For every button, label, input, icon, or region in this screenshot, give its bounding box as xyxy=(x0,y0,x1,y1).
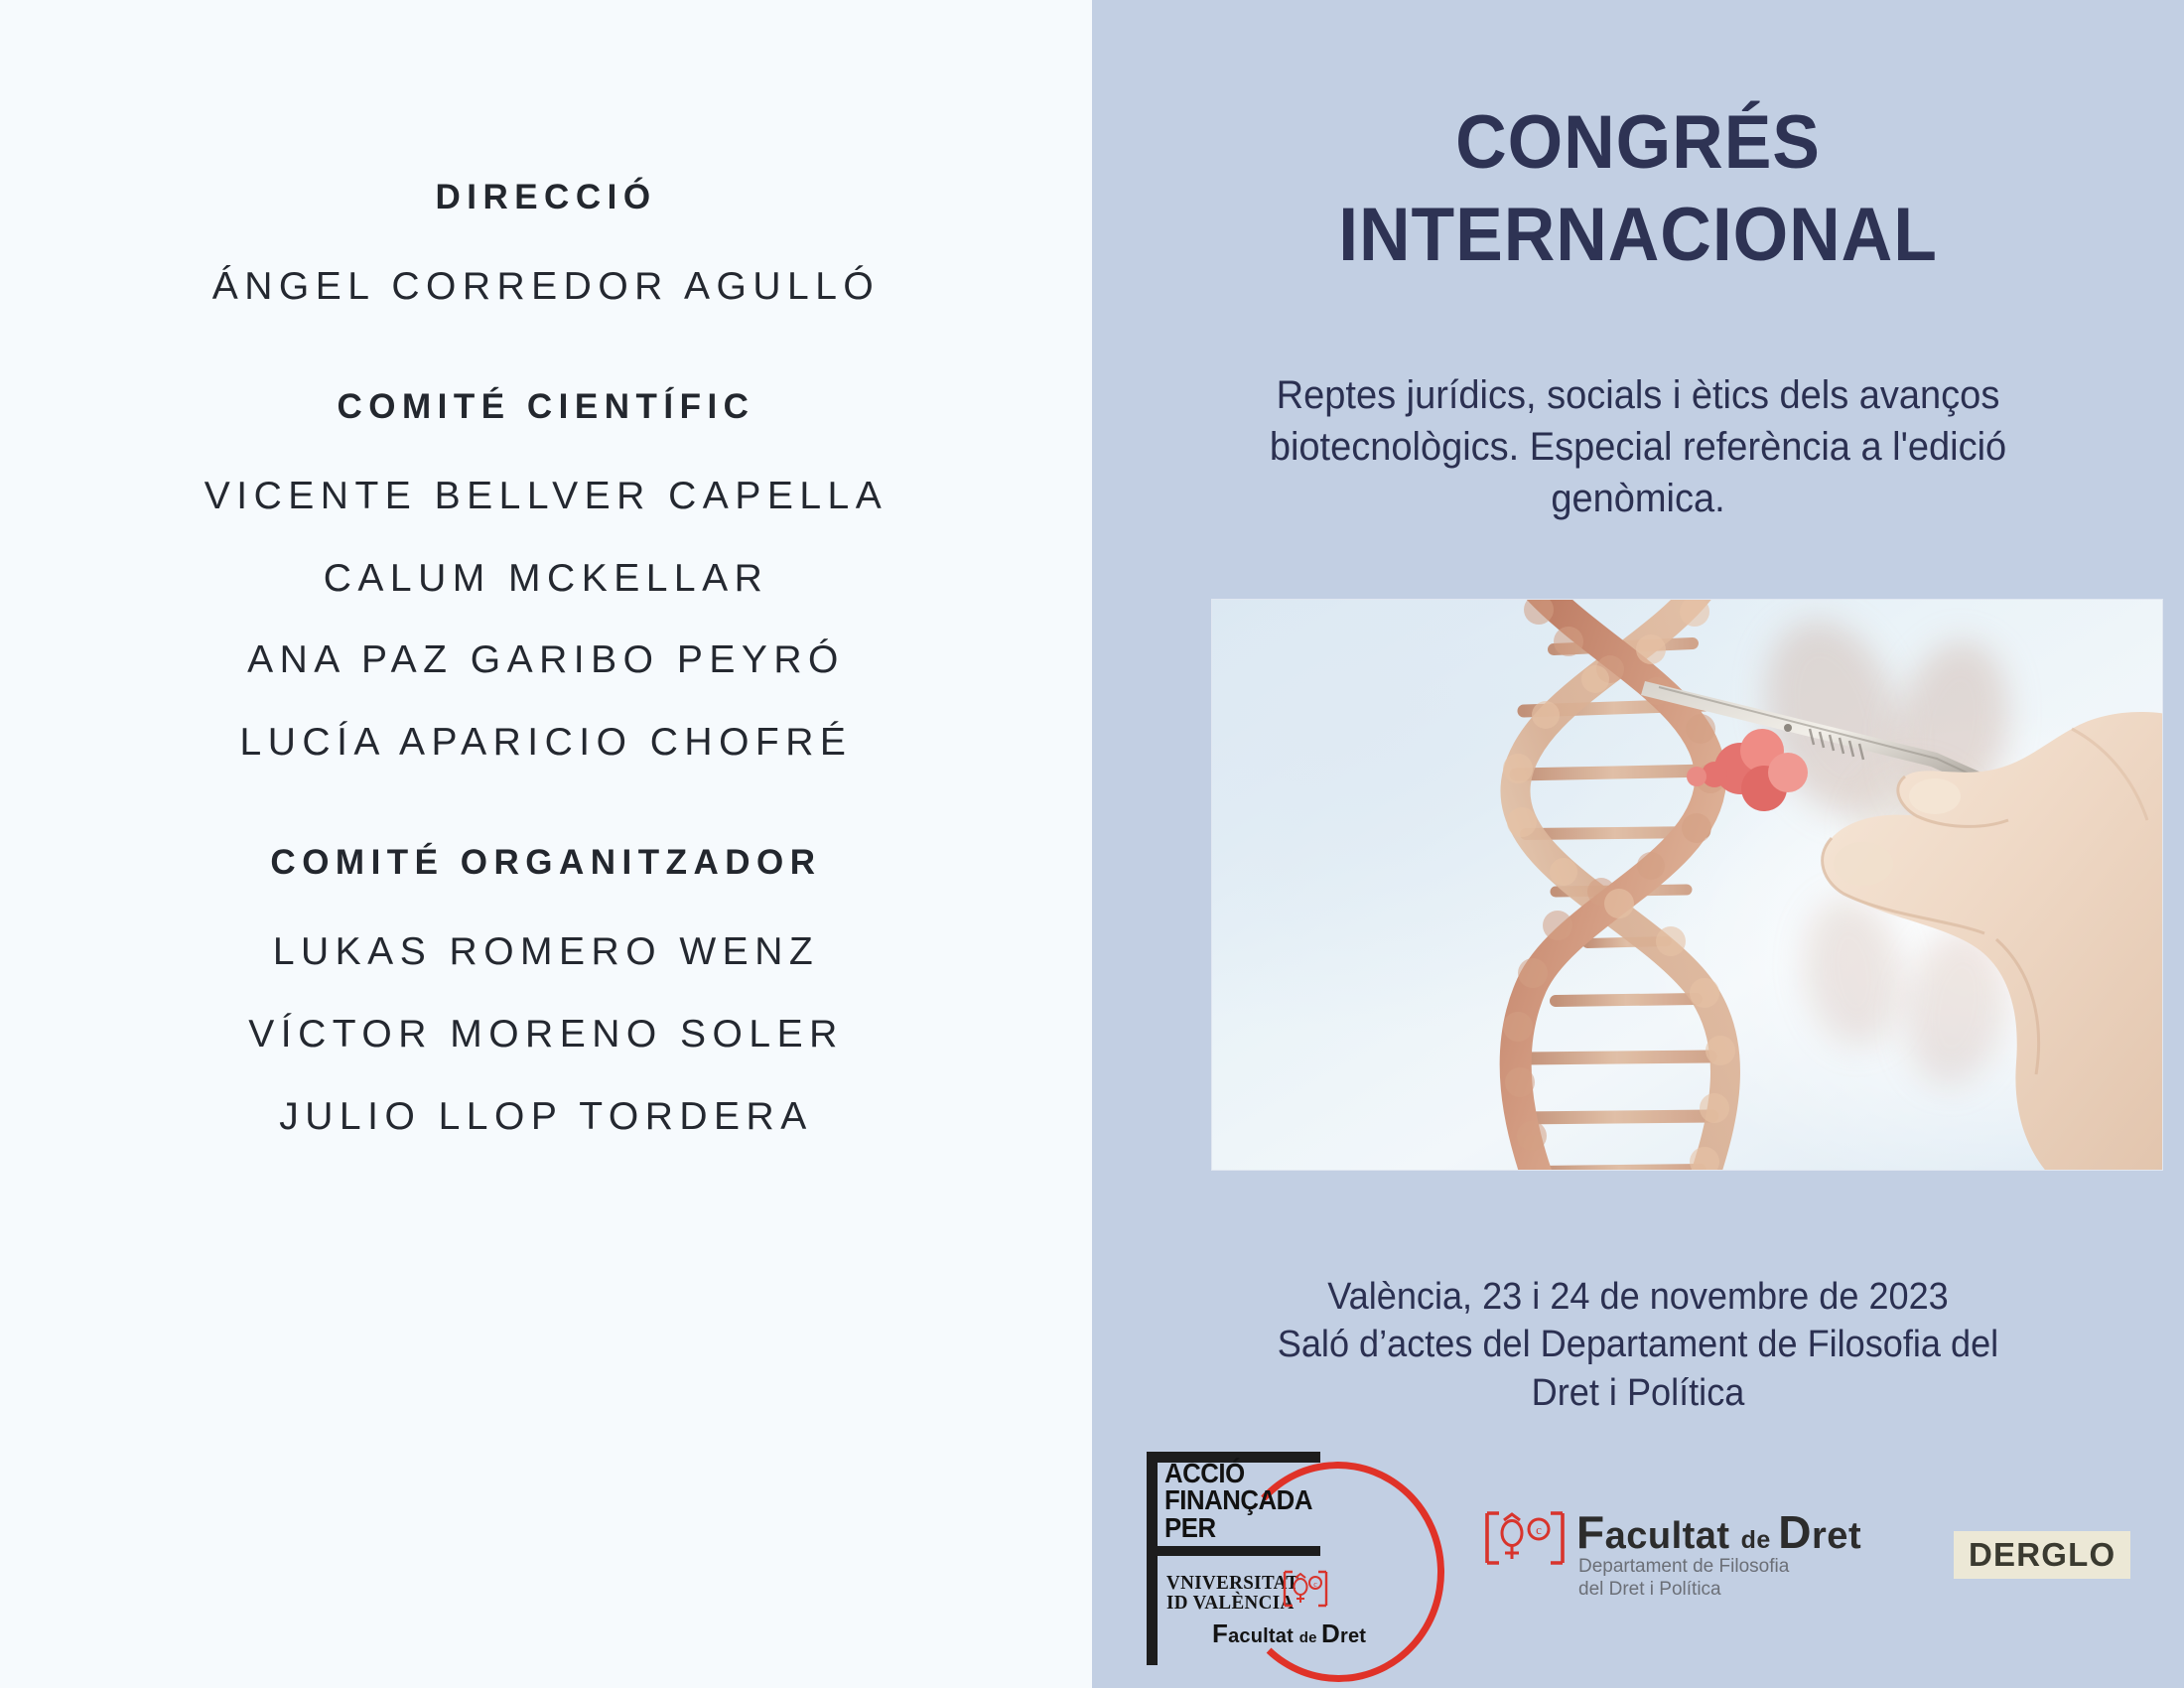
facultat-de-dret-logo: c Facultat de Dret Departament de Filoso… xyxy=(1479,1507,1856,1626)
uv-faculty-name: Facultat de Dret xyxy=(1212,1618,1366,1649)
faculty-title-d: D xyxy=(1778,1506,1812,1558)
credits-panel: DIRECCIÓ ÁNGEL CORREDOR AGULLÓ COMITÉ CI… xyxy=(0,0,1092,1688)
derglo-logo: DERGLO xyxy=(1954,1531,2130,1579)
latex-glove-icon xyxy=(1823,712,2162,1170)
group-heading-comite-cientific: COMITÉ CIENTÍFIC xyxy=(60,386,1032,428)
uv-faculty-de: de xyxy=(1299,1629,1321,1646)
spacer xyxy=(60,428,1032,474)
black-bracket-divider-icon xyxy=(1147,1546,1320,1556)
page-title-line2: INTERNACIONAL xyxy=(1190,190,2086,282)
faculty-title-ret: ret xyxy=(1812,1515,1861,1557)
spacer xyxy=(60,1058,1032,1094)
credit-group-comite-organitzador: COMITÉ ORGANITZADOR LUKAS ROMERO WENZ VÍ… xyxy=(60,842,1032,1140)
svg-text:c: c xyxy=(1313,1580,1317,1589)
person-name: ANA PAZ GARIBO PEYRÓ xyxy=(60,637,1032,684)
funding-line2: FINANÇADA xyxy=(1164,1486,1312,1513)
faculty-title-f: F xyxy=(1576,1506,1605,1558)
spacer xyxy=(60,218,1032,264)
venue-date: València, 23 i 24 de novembre de 2023 xyxy=(1204,1273,2072,1321)
person-name: ÁNGEL CORREDOR AGULLÓ xyxy=(60,264,1032,311)
spacer xyxy=(60,311,1032,386)
university-name-line2: ID VALÈNCIA xyxy=(1166,1593,1298,1613)
poster-root: DIRECCIÓ ÁNGEL CORREDOR AGULLÓ COMITÉ CI… xyxy=(0,0,2184,1688)
university-name-line1: VNIVERSITAT xyxy=(1166,1573,1298,1593)
faculty-department-line1: Departament de Filosofia xyxy=(1578,1555,1789,1578)
uv-faculty-d: D xyxy=(1321,1618,1340,1648)
credit-group-direccio: DIRECCIÓ ÁNGEL CORREDOR AGULLÓ xyxy=(60,177,1032,311)
person-name: JULIO LLOP TORDERA xyxy=(60,1094,1032,1141)
funding-text: ACCIÓ FINANÇADA PER xyxy=(1164,1460,1312,1541)
spacer xyxy=(60,684,1032,720)
uv-emblem-icon: c xyxy=(1282,1569,1329,1609)
person-name: LUKAS ROMERO WENZ xyxy=(60,929,1032,976)
spacer xyxy=(60,976,1032,1012)
uv-emblem-icon: c xyxy=(1479,1507,1569,1569)
venue-place-line2: Dret i Política xyxy=(1204,1369,2072,1417)
event-panel: CONGRÉS INTERNACIONAL Reptes jurídics, s… xyxy=(1092,0,2184,1688)
group-heading-comite-organitzador: COMITÉ ORGANITZADOR xyxy=(60,842,1032,884)
person-name: CALUM MCKELLAR xyxy=(60,556,1032,603)
page-subtitle: Reptes jurídics, socials i ètics dels av… xyxy=(1223,369,2053,524)
spacer xyxy=(60,602,1032,637)
venue-info: València, 23 i 24 de novembre de 2023 Sa… xyxy=(1204,1273,2072,1417)
uv-faculty-ret: ret xyxy=(1340,1625,1366,1647)
faculty-title: Facultat de Dret xyxy=(1576,1505,1861,1559)
spacer xyxy=(60,767,1032,842)
gloved-hand-with-tweezers-icon xyxy=(1639,626,2162,1170)
faculty-title-acultat: acultat xyxy=(1605,1515,1741,1557)
uv-faculty-acultat: acultat xyxy=(1228,1625,1299,1647)
uv-faculty-f: F xyxy=(1212,1618,1228,1648)
faculty-department: Departament de Filosofia del Dret i Polí… xyxy=(1578,1555,1789,1601)
credits-list: DIRECCIÓ ÁNGEL CORREDOR AGULLÓ COMITÉ CI… xyxy=(60,177,1032,1140)
universitat-valencia-funding-logo: ACCIÓ FINANÇADA PER VNIVERSITAT ID VALÈN… xyxy=(1147,1452,1434,1672)
university-name: VNIVERSITAT ID VALÈNCIA xyxy=(1166,1573,1298,1613)
dna-helix-tweezers-photo xyxy=(1212,600,2162,1170)
faculty-title-de: de xyxy=(1741,1526,1779,1554)
venue-place-line1: Saló d’actes del Departament de Filosofi… xyxy=(1204,1321,2072,1368)
funding-line1: ACCIÓ xyxy=(1164,1460,1312,1486)
person-name: VICENTE BELLVER CAPELLA xyxy=(60,474,1032,520)
spacer xyxy=(60,520,1032,556)
person-name: LUCÍA APARICIO CHOFRÉ xyxy=(60,720,1032,767)
logo-strip: ACCIÓ FINANÇADA PER VNIVERSITAT ID VALÈN… xyxy=(0,1450,2184,1688)
credit-group-comite-cientific: COMITÉ CIENTÍFIC VICENTE BELLVER CAPELLA… xyxy=(60,386,1032,767)
person-name: VÍCTOR MORENO SOLER xyxy=(60,1012,1032,1058)
faculty-department-line2: del Dret i Política xyxy=(1578,1578,1789,1601)
group-heading-direccio: DIRECCIÓ xyxy=(60,177,1032,218)
page-title: CONGRÉS INTERNACIONAL xyxy=(1190,97,2086,281)
svg-text:c: c xyxy=(1536,1522,1542,1537)
funding-line3: PER xyxy=(1164,1514,1312,1541)
spacer xyxy=(60,884,1032,929)
page-title-line1: CONGRÉS xyxy=(1190,97,2086,190)
